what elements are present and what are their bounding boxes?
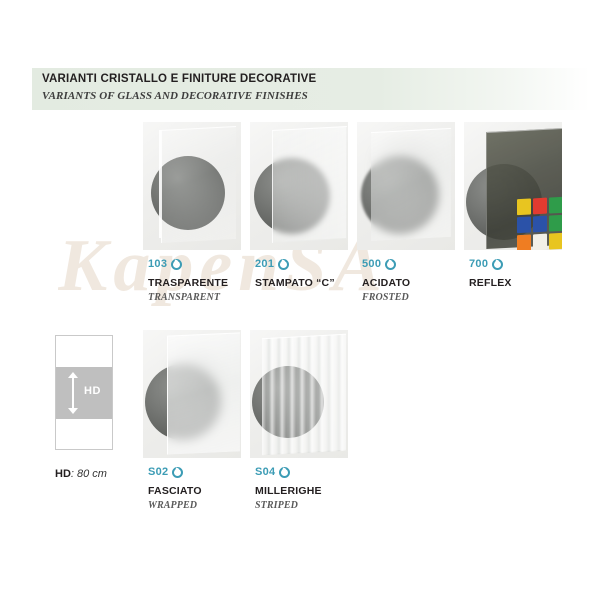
hd-arrow: [68, 372, 79, 414]
hd-caption: HD: 80 cm: [55, 468, 107, 480]
glass-pane: [167, 332, 240, 454]
hd-caption-label: HD: [55, 468, 71, 480]
flute-highlight-overlay: [262, 334, 346, 454]
colour-chip: [517, 234, 531, 250]
section-title-english: VARIANTS OF GLASS AND DECORATIVE FINISHE…: [42, 89, 316, 104]
hd-caption-value: : 80 cm: [71, 468, 107, 480]
sample-code: 700: [469, 258, 488, 271]
sample-code: S02: [148, 466, 168, 479]
colour-chip-grid: [517, 197, 562, 250]
glass-variant-icon: [278, 259, 289, 270]
colour-chip: [517, 216, 531, 233]
glass-pane: [161, 126, 236, 243]
sample-name-italian: REFLEX: [469, 276, 599, 290]
sample-code: S04: [255, 466, 275, 479]
sample-image-500: [357, 122, 455, 250]
glass-variant-icon: [385, 259, 396, 270]
sample-name-italian: MILLERIGHE: [255, 484, 385, 498]
sample-code-row: 700: [469, 258, 599, 271]
glass-texture-overlay: [272, 126, 346, 242]
colour-chip: [533, 216, 547, 233]
glass-variants-page: VARIANTI CRISTALLO E FINITURE DECORATIVE…: [0, 0, 600, 600]
sample-name-english: FROSTED: [362, 291, 492, 304]
sample-image-201: [250, 122, 348, 250]
sample-image-103: [143, 122, 241, 250]
colour-chip: [533, 234, 547, 250]
glass-variant-icon: [171, 259, 182, 270]
sample-code-row: S04: [255, 466, 385, 479]
glass-pane: [371, 128, 451, 241]
sample-code: 500: [362, 258, 381, 271]
arrow-shaft: [72, 377, 74, 409]
sample-code: 201: [255, 258, 274, 271]
sample-code: 103: [148, 258, 167, 271]
sample-image-S02: [143, 330, 241, 458]
glass-edge-highlight: [159, 130, 161, 238]
sample-name-english: TRANSPARENT: [148, 291, 278, 304]
sample-name-english: STRIPED: [255, 499, 385, 512]
hd-band-label: HD: [84, 385, 101, 397]
colour-chip: [549, 233, 562, 250]
sample-caption-700: 700 REFLEX: [469, 258, 599, 291]
colour-chip: [517, 198, 531, 215]
arrow-down-head: [68, 408, 78, 414]
colour-chip: [533, 198, 547, 215]
section-header-band: VARIANTI CRISTALLO E FINITURE DECORATIVE…: [32, 68, 590, 110]
glass-variant-icon: [492, 259, 503, 270]
glass-variant-icon: [279, 467, 290, 478]
section-header-text: VARIANTI CRISTALLO E FINITURE DECORATIVE…: [42, 72, 316, 104]
colour-chip: [549, 197, 562, 214]
colour-chip: [549, 215, 562, 232]
sample-image-700: [464, 122, 562, 250]
glass-variant-icon: [172, 467, 183, 478]
sample-image-S04: [250, 330, 348, 458]
hd-dimension-diagram: HD: [55, 335, 113, 450]
section-title-italian: VARIANTI CRISTALLO E FINITURE DECORATIVE: [42, 72, 316, 87]
sample-caption-S04: S04 MILLERIGHE STRIPED: [255, 466, 385, 512]
